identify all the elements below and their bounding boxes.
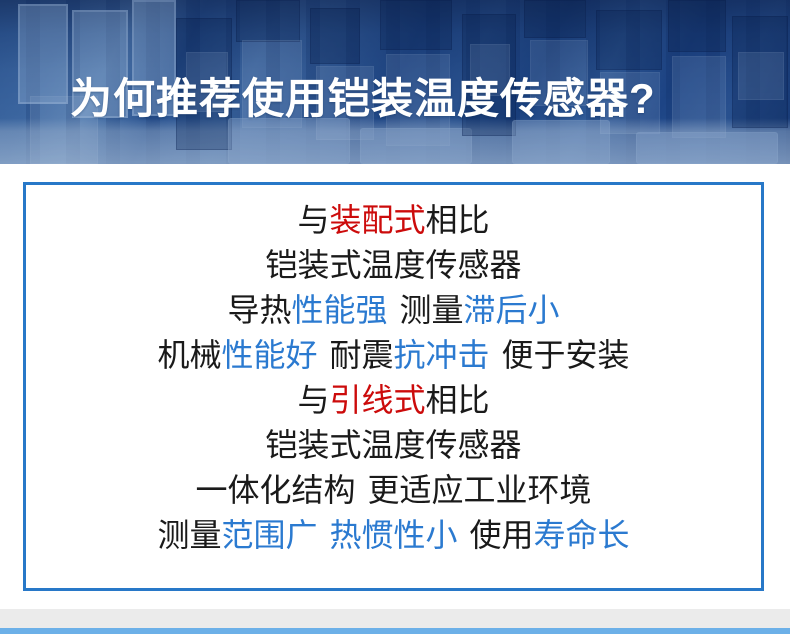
feature-line: 与引线式相比 <box>23 378 764 423</box>
text-segment-black: 机械 <box>157 337 221 373</box>
feature-line: 测量范围广热惯性小使用寿命长 <box>23 513 764 558</box>
feature-line: 铠装式温度传感器 <box>23 423 764 468</box>
text-segment-blue: 性能好 <box>221 337 317 373</box>
footer-blue-strip <box>0 628 790 634</box>
feature-line: 与装配式相比 <box>23 198 764 243</box>
page-title: 为何推荐使用铠装温度传感器? <box>70 74 730 124</box>
text-segment-black: 与 <box>297 382 329 418</box>
feature-line: 一体化结构更适应工业环境 <box>23 468 764 513</box>
text-segment-blue: 热惯性小 <box>329 517 457 553</box>
text-segment-red: 引线式 <box>329 382 425 418</box>
text-segment-black: 使用 <box>470 517 534 553</box>
text-segment-red: 装配式 <box>329 202 425 238</box>
feature-line: 铠装式温度传感器 <box>23 243 764 288</box>
text-segment-black: 便于安装 <box>502 337 630 373</box>
text-segment-blue: 抗冲击 <box>394 337 490 373</box>
text-segment-black: 导热 <box>227 292 291 328</box>
text-segment-blue: 滞后小 <box>464 292 560 328</box>
text-segment-black: 测量 <box>400 292 464 328</box>
text-segment-blue: 性能强 <box>291 292 387 328</box>
feature-text-block: 与装配式相比铠装式温度传感器导热性能强测量滞后小机械性能好耐震抗冲击便于安装与引… <box>23 198 764 558</box>
text-segment-black: 相比 <box>426 202 490 238</box>
text-segment-black: 铠装式温度传感器 <box>265 427 521 463</box>
text-segment-black: 测量 <box>157 517 221 553</box>
text-segment-black: 耐震 <box>329 337 393 373</box>
text-segment-black: 铠装式温度传感器 <box>265 247 521 283</box>
promo-page: 为何推荐使用铠装温度传感器? 与装配式相比铠装式温度传感器导热性能强测量滞后小机… <box>0 0 790 634</box>
text-segment-black: 相比 <box>426 382 490 418</box>
text-segment-black: 一体化结构 <box>195 472 355 508</box>
feature-line: 导热性能强测量滞后小 <box>23 288 764 333</box>
text-segment-blue: 范围广 <box>221 517 317 553</box>
feature-line: 机械性能好耐震抗冲击便于安装 <box>23 333 764 378</box>
text-segment-blue: 寿命长 <box>534 517 630 553</box>
text-segment-black: 更适应工业环境 <box>368 472 592 508</box>
footer-gray-strip <box>0 609 790 628</box>
header-banner: 为何推荐使用铠装温度传感器? <box>0 0 790 164</box>
text-segment-black: 与 <box>297 202 329 238</box>
